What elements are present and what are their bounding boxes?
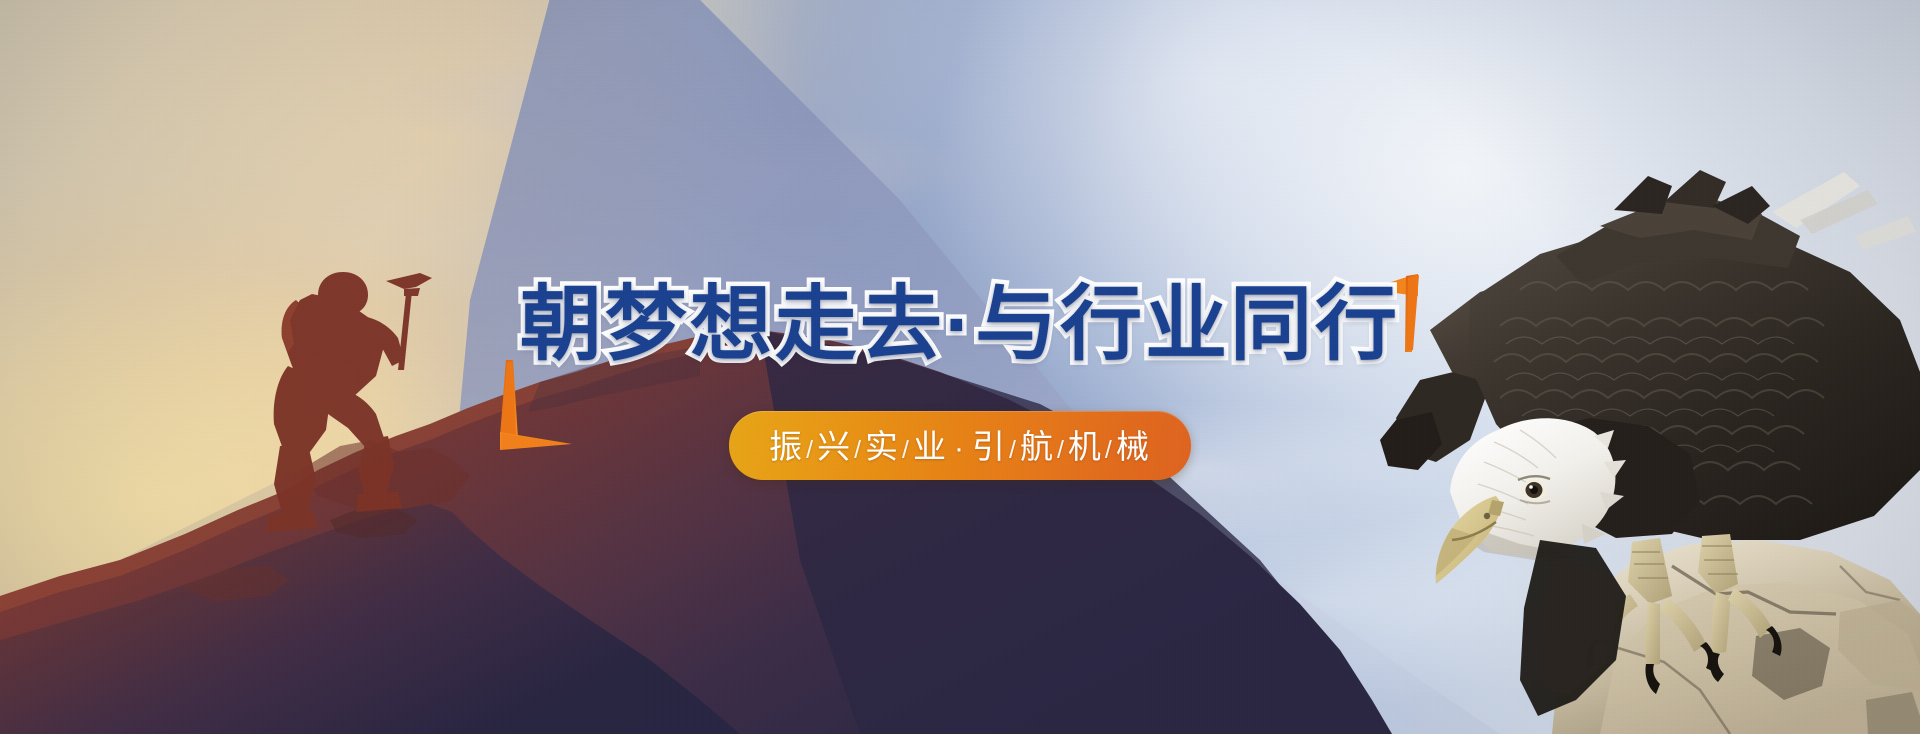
tagline-sep-2: / (852, 436, 865, 464)
tagline-sep-4: / (1007, 436, 1020, 464)
tagline-char-3: 实 (865, 428, 900, 465)
tagline-sep-6: / (1103, 436, 1116, 464)
tagline-badge: 振/兴/实/业·引/航/机/械 (729, 411, 1191, 480)
page-title: 朝梦想走去·与行业同行 (520, 282, 1400, 369)
tagline-sep-5: / (1055, 436, 1068, 464)
tagline-middle-dot: · (948, 432, 972, 465)
tagline-char-8: 械 (1116, 428, 1151, 465)
tagline-char-5: 引 (972, 428, 1007, 465)
tagline-char-1: 振 (769, 428, 804, 465)
hero-banner: 朝梦想走去·与行业同行 振/兴/实/业·引/航/机/械 (0, 0, 1920, 734)
tagline-char-6: 航 (1020, 428, 1055, 465)
tagline-sep-1: / (804, 436, 817, 464)
tagline-char-7: 机 (1068, 428, 1103, 465)
tagline-container: 振/兴/实/业·引/航/机/械 (0, 411, 1920, 480)
tagline-sep-3: / (900, 436, 913, 464)
tagline-char-2: 兴 (817, 428, 852, 465)
headline-container: 朝梦想走去·与行业同行 (0, 282, 1920, 369)
tagline-char-4: 业 (913, 428, 948, 465)
